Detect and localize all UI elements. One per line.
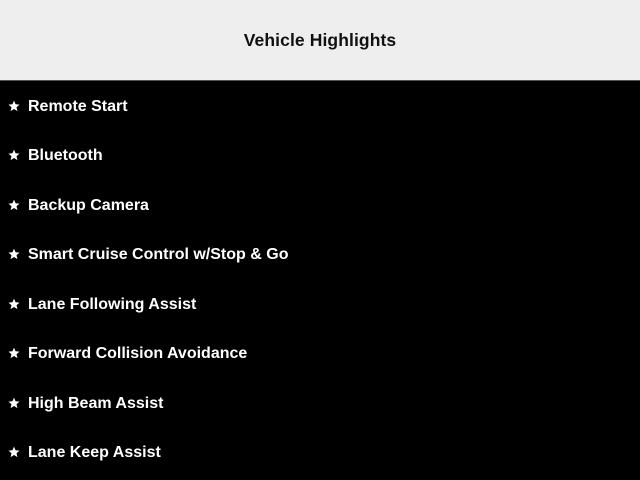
list-item-label: Forward Collision Avoidance <box>28 346 247 362</box>
list-item-label: Smart Cruise Control w/Stop & Go <box>28 247 288 263</box>
list-item: Bluetooth <box>0 132 640 182</box>
highlights-list: Remote Start Bluetooth Backup Camera Sma… <box>0 82 640 480</box>
list-item: Lane Keep Assist <box>0 429 640 479</box>
list-item: Forward Collision Avoidance <box>0 330 640 380</box>
list-item: Smart Cruise Control w/Stop & Go <box>0 231 640 281</box>
star-icon <box>8 298 20 310</box>
vehicle-highlights-panel: Vehicle Highlights Remote Start Bluetoot… <box>0 0 640 480</box>
list-item: High Beam Assist <box>0 379 640 429</box>
list-item-label: High Beam Assist <box>28 396 163 412</box>
list-item-label: Bluetooth <box>28 148 103 164</box>
list-item-label: Backup Camera <box>28 198 149 214</box>
list-item-label: Lane Following Assist <box>28 297 196 313</box>
list-item: Lane Following Assist <box>0 280 640 330</box>
list-item: Backup Camera <box>0 181 640 231</box>
page-title: Vehicle Highlights <box>244 32 397 50</box>
star-icon <box>8 248 20 260</box>
star-icon <box>8 149 20 161</box>
star-icon <box>8 347 20 359</box>
list-item: Remote Start <box>0 82 640 132</box>
star-icon <box>8 199 20 211</box>
star-icon <box>8 397 20 409</box>
panel-header: Vehicle Highlights <box>0 0 640 81</box>
list-item-label: Lane Keep Assist <box>28 445 161 461</box>
star-icon <box>8 100 20 112</box>
list-item-label: Remote Start <box>28 99 128 115</box>
star-icon <box>8 446 20 458</box>
